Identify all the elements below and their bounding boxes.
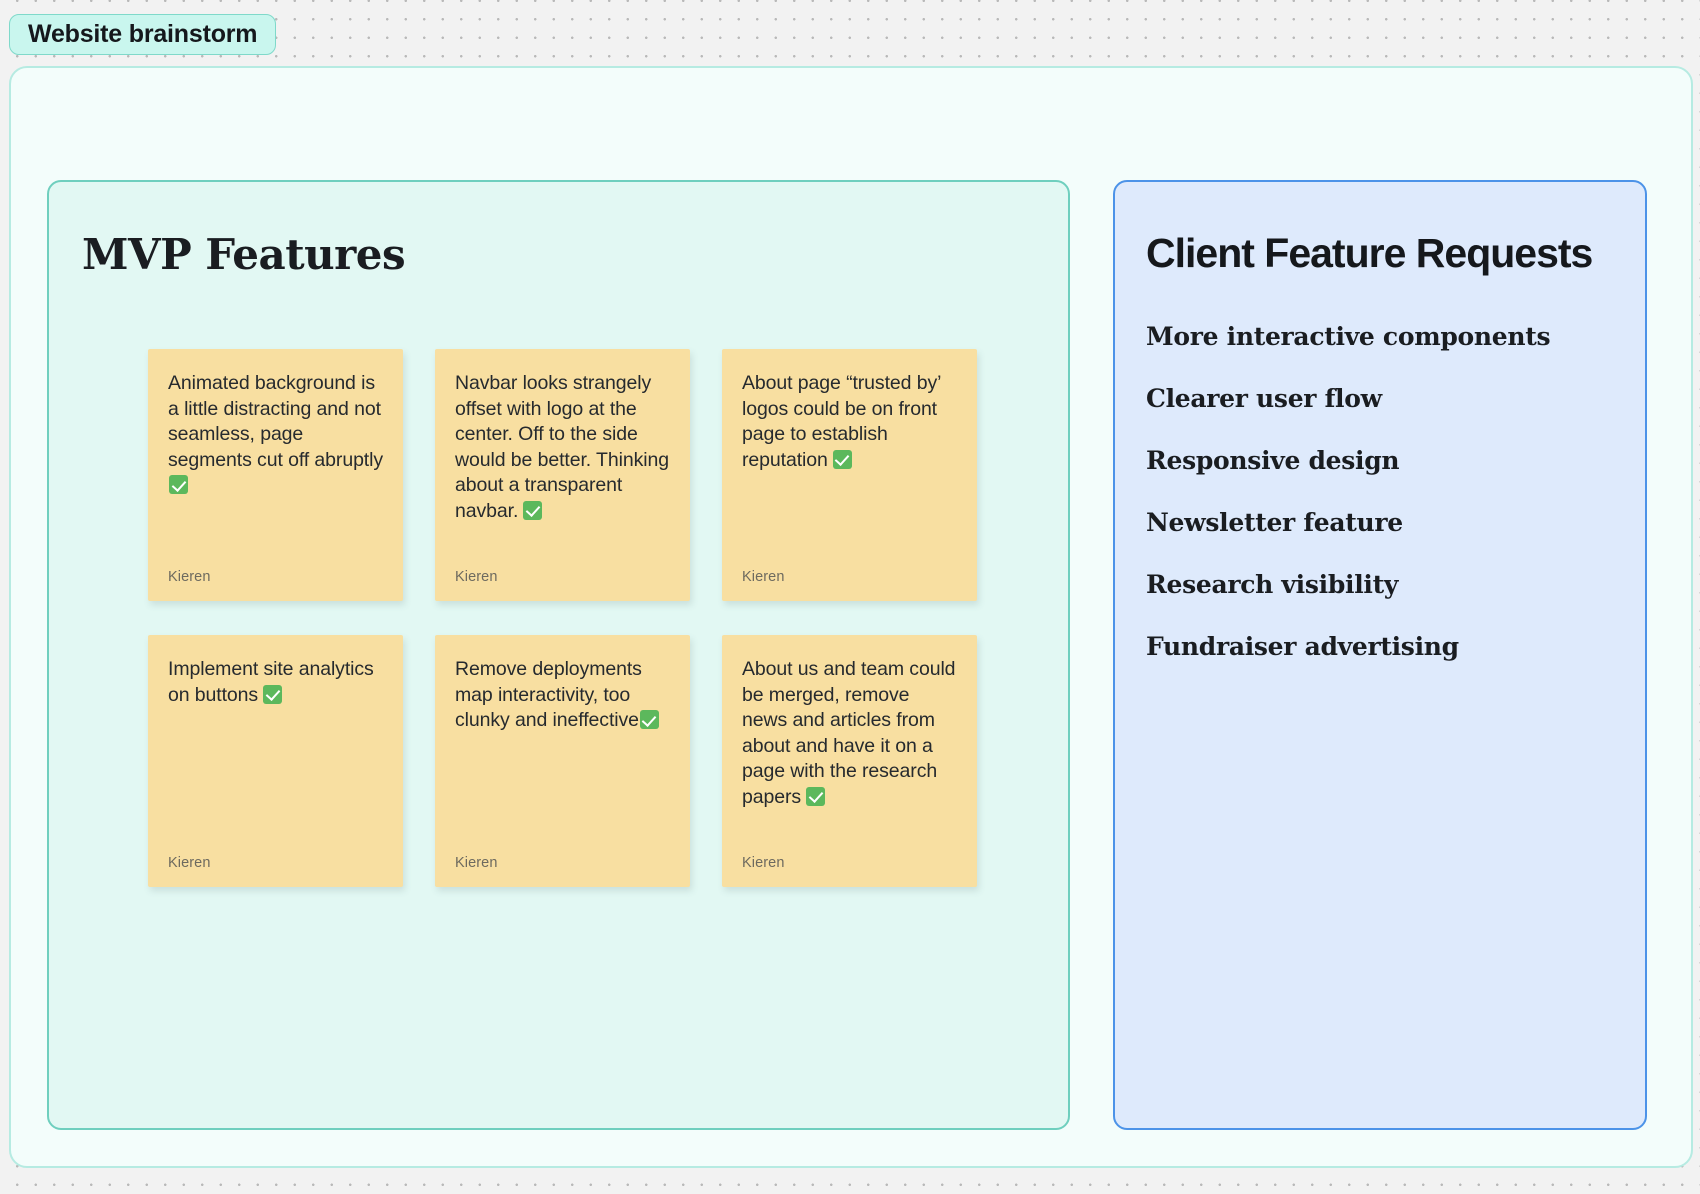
white-heavy-check-mark-icon [806, 787, 825, 806]
client-request-item[interactable]: Newsletter feature [1146, 508, 1645, 537]
sticky-notes-grid: Animated background is a little distract… [148, 349, 1068, 887]
sticky-note-author: Kieren [168, 855, 383, 871]
sticky-note-text: Animated background is a little distract… [168, 371, 383, 499]
client-request-item[interactable]: More interactive components [1146, 322, 1645, 351]
sticky-note-text: About us and team could be merged, remov… [742, 657, 957, 810]
sticky-note[interactable]: Animated background is a little distract… [148, 349, 403, 601]
sticky-note-author: Kieren [455, 569, 670, 585]
panels-container: MVP Features Animated background is a li… [47, 180, 1647, 1130]
sticky-note[interactable]: Implement site analytics on buttonsKiere… [148, 635, 403, 887]
sticky-note[interactable]: About page “trusted by’ logos could be o… [722, 349, 977, 601]
white-heavy-check-mark-icon [640, 710, 659, 729]
white-heavy-check-mark-icon [833, 450, 852, 469]
client-request-item[interactable]: Research visibility [1146, 570, 1645, 599]
white-heavy-check-mark-icon [263, 685, 282, 704]
white-heavy-check-mark-icon [169, 475, 188, 494]
mvp-features-panel[interactable]: MVP Features Animated background is a li… [47, 180, 1070, 1130]
sticky-note[interactable]: About us and team could be merged, remov… [722, 635, 977, 887]
sticky-note-author: Kieren [742, 569, 957, 585]
client-request-item[interactable]: Fundraiser advertising [1146, 632, 1645, 661]
sticky-note[interactable]: Navbar looks strangely offset with logo … [435, 349, 690, 601]
client-request-list: More interactive componentsClearer user … [1146, 322, 1645, 661]
sticky-note-text: Implement site analytics on buttons [168, 657, 383, 708]
sticky-note-text: About page “trusted by’ logos could be o… [742, 371, 957, 473]
board-title-label: Website brainstorm [28, 20, 257, 49]
board-title-tab[interactable]: Website brainstorm [9, 14, 276, 55]
client-panel-title: Client Feature Requests [1146, 230, 1645, 277]
white-heavy-check-mark-icon [523, 501, 542, 520]
sticky-note-author: Kieren [742, 855, 957, 871]
mvp-panel-title: MVP Features [82, 230, 1068, 279]
client-feature-requests-panel[interactable]: Client Feature Requests More interactive… [1113, 180, 1647, 1130]
sticky-note-text: Remove deployments map interactivity, to… [455, 657, 670, 734]
sticky-note[interactable]: Remove deployments map interactivity, to… [435, 635, 690, 887]
client-request-item[interactable]: Responsive design [1146, 446, 1645, 475]
client-request-item[interactable]: Clearer user flow [1146, 384, 1645, 413]
sticky-note-text: Navbar looks strangely offset with logo … [455, 371, 670, 524]
sticky-note-author: Kieren [455, 855, 670, 871]
sticky-note-author: Kieren [168, 569, 383, 585]
